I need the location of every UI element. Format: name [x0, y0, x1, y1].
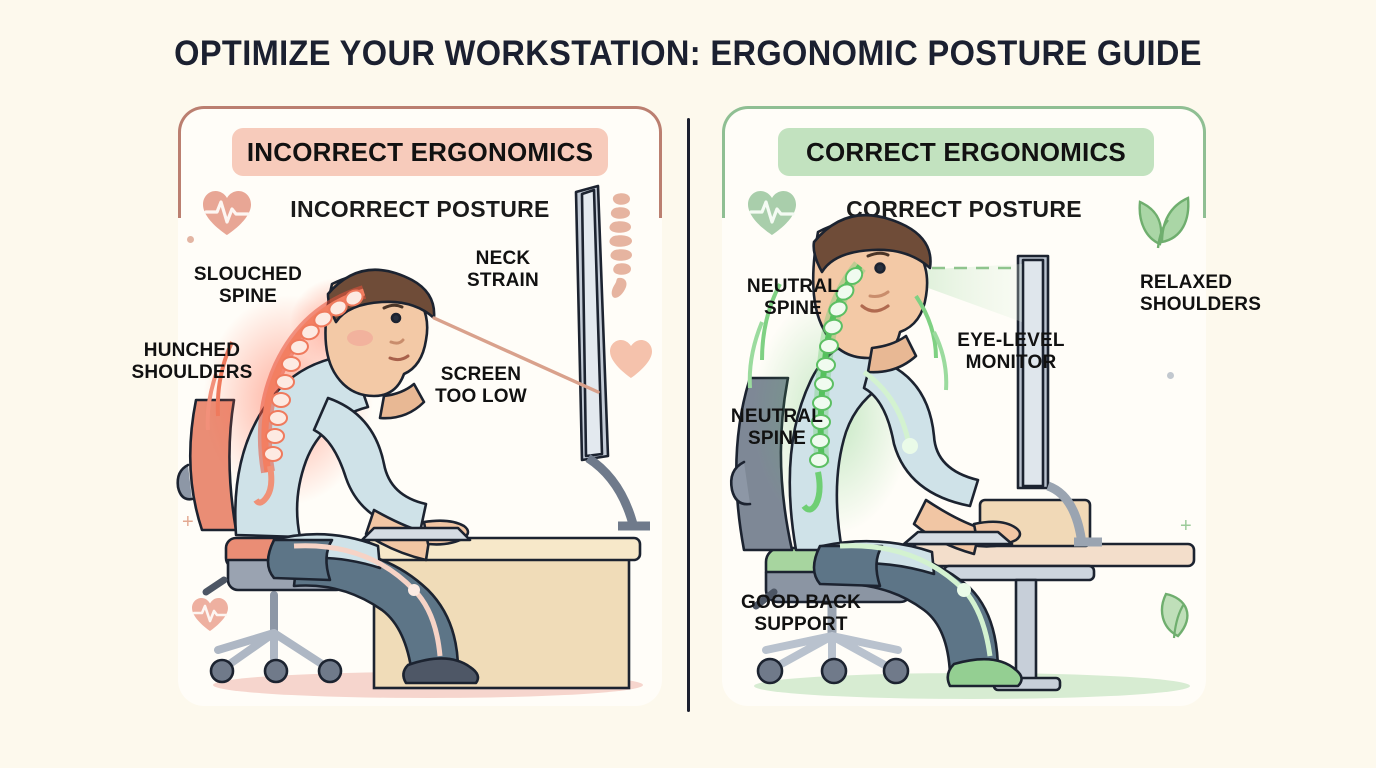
- infographic-canvas: OPTIMIZE YOUR WORKSTATION: ERGONOMIC POS…: [0, 0, 1376, 768]
- dot-icon: [187, 236, 194, 243]
- badge-correct-ergonomics: CORRECT ERGONOMICS: [778, 128, 1154, 176]
- label-slouched-spine: SLOUCHED SPINE: [178, 264, 318, 308]
- label-good-back-support: GOOD BACK SUPPORT: [724, 592, 878, 636]
- label-neutral-spine-top: NEUTRAL SPINE: [728, 276, 858, 320]
- label-screen-too-low: SCREEN TOO LOW: [414, 364, 548, 408]
- page-title: OPTIMIZE YOUR WORKSTATION: ERGONOMIC POS…: [48, 34, 1328, 74]
- label-relaxed-shoulders: RELAXED SHOULDERS: [1140, 272, 1290, 316]
- panel-divider: [687, 118, 690, 712]
- label-neck-strain: NECK STRAIN: [448, 248, 558, 292]
- badge-incorrect-ergonomics: INCORRECT ERGONOMICS: [232, 128, 608, 176]
- label-hunched-shoulders: HUNCHED SHOULDERS: [118, 340, 266, 384]
- label-neutral-spine-lower: NEUTRAL SPINE: [712, 406, 842, 450]
- label-eye-level-monitor: EYE-LEVEL MONITOR: [940, 330, 1082, 374]
- keyboard-right: [904, 532, 1012, 544]
- keyboard-left: [362, 528, 470, 540]
- leaf-pair-icon: [1136, 192, 1192, 250]
- heartbeat-heart-icon: [745, 188, 799, 238]
- heartbeat-heart-icon: [200, 188, 254, 238]
